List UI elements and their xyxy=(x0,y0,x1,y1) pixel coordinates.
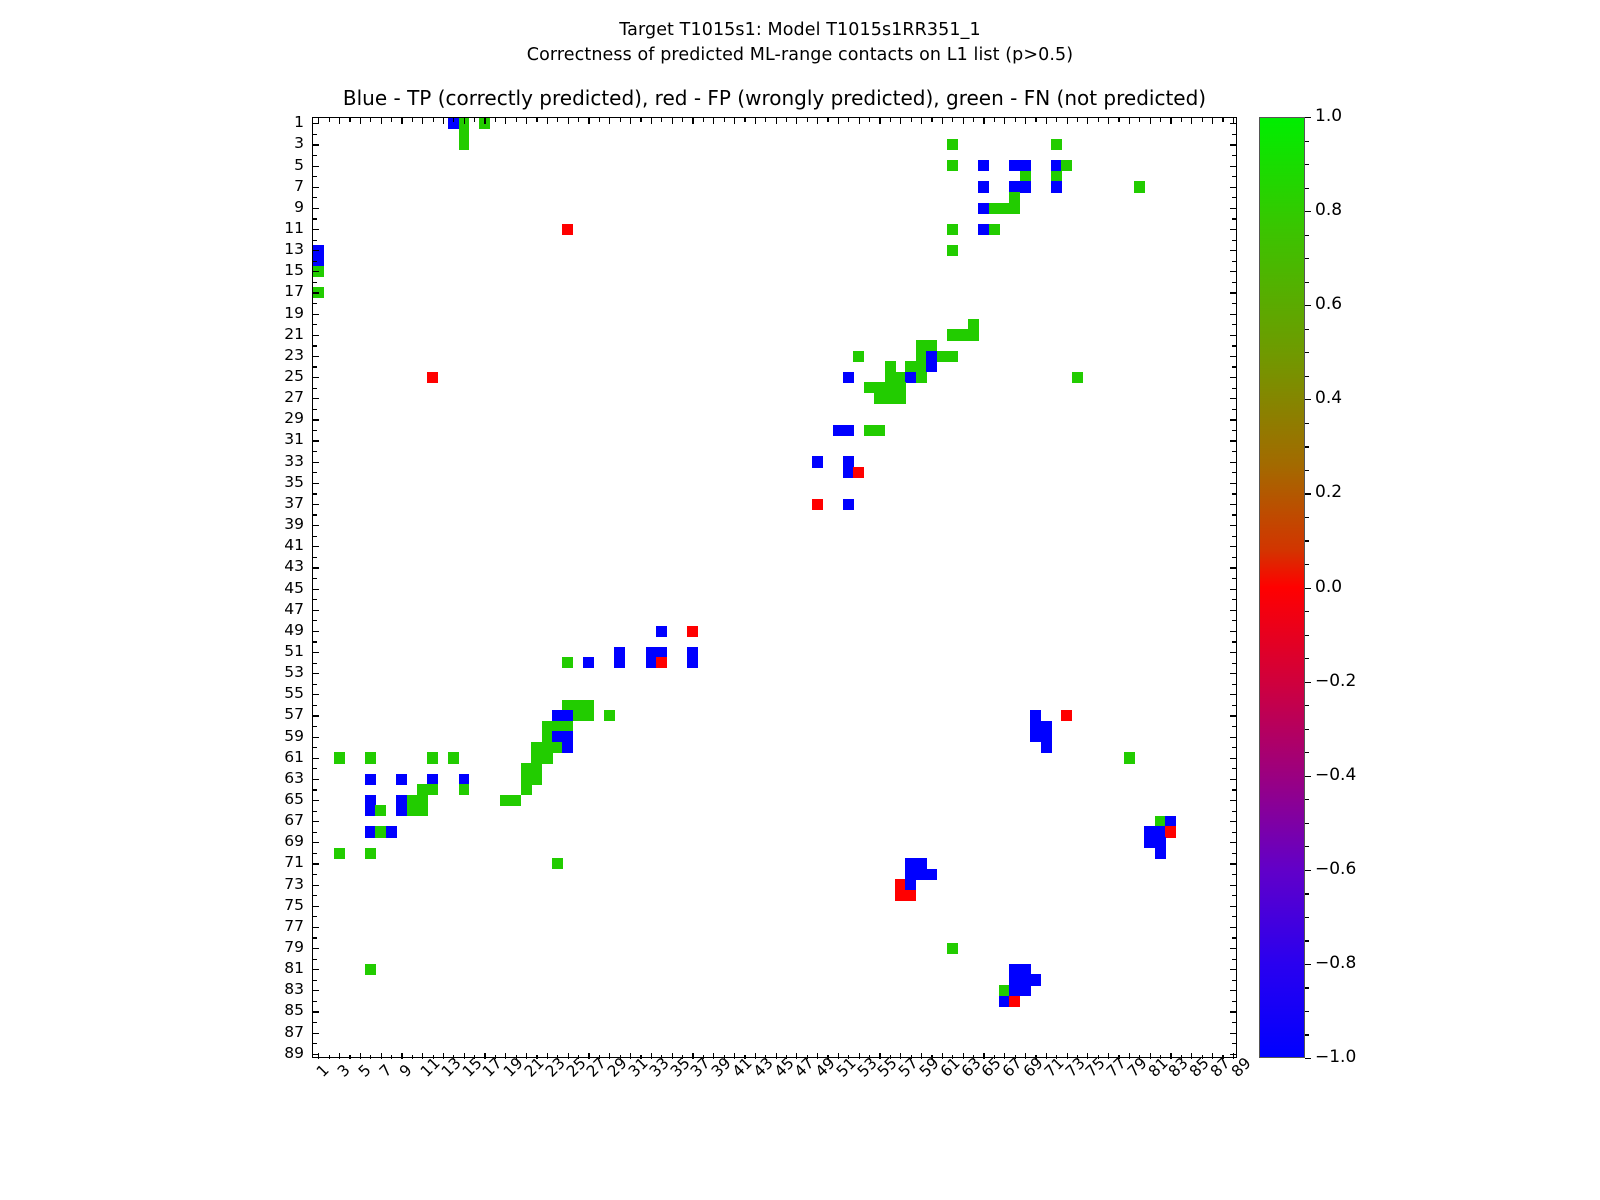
colorbar-minor-tick xyxy=(1305,917,1309,918)
x-axis-tick xyxy=(412,1055,413,1059)
x-axis-tick-top xyxy=(1056,118,1057,122)
y-axis-tick-right xyxy=(1230,546,1236,547)
x-axis-tick-top xyxy=(412,118,413,122)
contact-cell xyxy=(656,647,667,658)
contact-cell xyxy=(687,647,698,658)
x-axis-tick-label: 1 xyxy=(313,1061,333,1081)
y-axis-tick-right xyxy=(1230,885,1236,886)
x-axis-tick-top xyxy=(630,118,631,124)
colorbar-gradient[interactable] xyxy=(1259,117,1305,1058)
x-axis-tick-top xyxy=(900,118,901,124)
y-axis-tick-right xyxy=(1230,1054,1236,1055)
x-axis-tick xyxy=(983,1053,984,1059)
x-axis-tick-top xyxy=(807,118,808,122)
contact-cell xyxy=(989,224,1000,235)
y-axis-tick-right xyxy=(1232,155,1236,156)
contact-cell xyxy=(375,826,386,837)
y-axis-tick-right xyxy=(1232,853,1236,854)
x-axis-tick xyxy=(360,1053,361,1059)
y-axis-tick xyxy=(313,218,317,219)
contact-cell xyxy=(552,721,563,732)
contact-cell xyxy=(895,393,906,404)
y-axis-tick-label: 79 xyxy=(244,938,304,956)
y-axis-tick-label: 85 xyxy=(244,1001,304,1019)
contact-cell xyxy=(396,774,407,785)
x-axis-tick-top xyxy=(443,118,444,124)
x-axis-tick-top xyxy=(879,118,880,124)
x-axis-tick xyxy=(370,1055,371,1059)
y-axis-tick-label: 11 xyxy=(244,219,304,237)
contact-map-plot[interactable] xyxy=(312,117,1237,1058)
y-axis-tick-right xyxy=(1230,652,1236,653)
colorbar-minor-tick xyxy=(1305,141,1309,142)
contact-cell xyxy=(459,129,470,140)
y-axis-tick-label: 25 xyxy=(244,367,304,385)
colorbar-minor-tick xyxy=(1305,729,1309,730)
contact-cell xyxy=(978,160,989,171)
colorbar-minor-tick xyxy=(1305,188,1309,189)
y-axis-tick xyxy=(313,388,317,389)
x-axis-tick xyxy=(568,1053,569,1059)
y-axis-tick-label: 89 xyxy=(244,1044,304,1062)
x-axis-tick-top xyxy=(796,118,797,124)
contact-cell xyxy=(895,372,906,383)
x-axis-tick xyxy=(921,1053,922,1059)
x-axis-tick xyxy=(588,1053,589,1059)
y-axis-tick-label: 87 xyxy=(244,1023,304,1041)
y-axis-tick xyxy=(313,1011,319,1012)
y-axis-tick-right xyxy=(1230,969,1236,970)
y-axis-tick xyxy=(313,261,317,262)
contact-cell xyxy=(1051,139,1062,150)
x-axis-tick-top xyxy=(776,118,777,124)
x-axis-tick xyxy=(651,1053,652,1059)
contact-cell xyxy=(573,700,584,711)
x-axis-tick-top xyxy=(848,118,849,122)
x-axis-tick-top xyxy=(401,118,402,124)
x-axis-tick xyxy=(505,1053,506,1059)
colorbar-minor-tick xyxy=(1305,752,1309,753)
contact-cell xyxy=(885,393,896,404)
contact-cell xyxy=(1041,742,1052,753)
contact-cell xyxy=(562,700,573,711)
contact-cell xyxy=(1144,837,1155,848)
contact-cell xyxy=(334,848,345,859)
y-axis-tick xyxy=(313,229,319,230)
x-axis-tick xyxy=(630,1053,631,1059)
y-axis-tick xyxy=(313,705,317,706)
contact-cell xyxy=(583,700,594,711)
contact-cell xyxy=(895,890,906,901)
colorbar-major-tick xyxy=(1305,211,1311,212)
colorbar-minor-tick xyxy=(1305,1034,1309,1035)
x-axis-tick-top xyxy=(817,118,818,124)
y-axis-tick-right xyxy=(1230,229,1236,230)
x-axis-tick-top xyxy=(557,118,558,122)
y-axis-tick xyxy=(313,969,319,970)
contact-cell xyxy=(1009,160,1020,171)
x-axis-tick-top xyxy=(963,118,964,124)
y-axis-tick-label: 55 xyxy=(244,684,304,702)
contact-cell xyxy=(552,742,563,753)
y-axis-tick-right xyxy=(1230,377,1236,378)
y-axis-tick xyxy=(313,589,319,590)
contact-cell xyxy=(1020,160,1031,171)
axes-title-legend: Blue - TP (correctly predicted), red - F… xyxy=(312,86,1237,110)
y-axis-tick-right xyxy=(1232,768,1236,769)
contact-cell xyxy=(531,742,542,753)
colorbar-minor-tick xyxy=(1305,376,1309,377)
contact-cell xyxy=(978,224,989,235)
x-axis-tick-top xyxy=(672,118,673,124)
y-axis-tick-label: 1 xyxy=(244,113,304,131)
y-axis-tick-right xyxy=(1232,789,1236,790)
contact-cell xyxy=(573,710,584,721)
x-axis-tick-top xyxy=(1202,118,1203,122)
colorbar-minor-tick xyxy=(1305,282,1309,283)
colorbar-minor-tick xyxy=(1305,705,1309,706)
y-axis-tick-right xyxy=(1230,462,1236,463)
y-axis-tick-right xyxy=(1230,631,1236,632)
contact-cell xyxy=(947,245,958,256)
contact-cell xyxy=(874,382,885,393)
y-axis-tick xyxy=(313,1054,319,1055)
contact-cell xyxy=(562,710,573,721)
y-axis-tick-right xyxy=(1230,906,1236,907)
contact-cell xyxy=(334,752,345,763)
contact-cell xyxy=(1020,985,1031,996)
x-axis-tick xyxy=(526,1053,527,1059)
y-axis-tick xyxy=(313,874,317,875)
y-axis-tick-right xyxy=(1230,737,1236,738)
x-axis-tick-top xyxy=(609,118,610,124)
x-axis-tick-top xyxy=(349,118,350,122)
x-axis-tick-top xyxy=(890,118,891,122)
contact-cell xyxy=(427,372,438,383)
x-axis-tick-top xyxy=(1181,118,1182,122)
y-axis-tick xyxy=(313,356,319,357)
y-axis-tick-right xyxy=(1230,715,1236,716)
x-axis-tick-top xyxy=(1212,118,1213,124)
contact-cell xyxy=(531,774,542,785)
colorbar-minor-tick xyxy=(1305,164,1309,165)
contact-cell xyxy=(937,351,948,362)
x-axis-tick-top xyxy=(786,118,787,122)
contact-cell xyxy=(905,869,916,880)
contact-cell xyxy=(427,774,438,785)
y-axis-tick-right xyxy=(1232,557,1236,558)
x-axis-tick-top xyxy=(505,118,506,124)
contact-cell xyxy=(1009,985,1020,996)
colorbar-minor-tick xyxy=(1305,893,1309,894)
x-axis-tick-top xyxy=(1129,118,1130,124)
y-axis-tick xyxy=(313,398,319,399)
colorbar-minor-tick xyxy=(1305,611,1309,612)
x-axis-tick-label: 5 xyxy=(355,1061,375,1081)
y-axis-tick xyxy=(313,176,317,177)
colorbar-minor-tick xyxy=(1305,987,1309,988)
contact-cell xyxy=(999,996,1010,1007)
contact-cell xyxy=(926,340,937,351)
contact-cell xyxy=(947,224,958,235)
y-axis-tick-right xyxy=(1232,345,1236,346)
x-axis-tick xyxy=(1170,1053,1171,1059)
colorbar-tick-label: −0.4 xyxy=(1315,765,1356,785)
x-axis-tick xyxy=(1087,1053,1088,1059)
contact-cell xyxy=(905,361,916,372)
y-axis-tick-right xyxy=(1230,821,1236,822)
contact-cell xyxy=(864,425,875,436)
contact-cell xyxy=(1051,171,1062,182)
contact-cell xyxy=(999,985,1010,996)
y-axis-tick-label: 23 xyxy=(244,346,304,364)
contact-cell xyxy=(656,626,667,637)
x-axis-tick xyxy=(484,1053,485,1059)
x-axis-tick-top xyxy=(640,118,641,122)
contact-cell xyxy=(656,657,667,668)
x-axis-tick xyxy=(1150,1053,1151,1059)
x-axis-tick xyxy=(963,1053,964,1059)
contact-cell xyxy=(500,795,511,806)
y-axis-tick-right xyxy=(1232,980,1236,981)
contact-cell xyxy=(833,425,844,436)
y-axis-tick xyxy=(313,916,317,917)
y-axis-tick-right xyxy=(1230,187,1236,188)
y-axis-tick-right xyxy=(1230,271,1236,272)
colorbar-minor-tick xyxy=(1305,329,1309,330)
y-axis-tick xyxy=(313,144,319,145)
y-axis-tick xyxy=(313,853,317,854)
y-axis-tick xyxy=(313,885,319,886)
x-axis-tick-top xyxy=(1067,118,1068,124)
contact-cell xyxy=(375,805,386,816)
y-axis-tick-right xyxy=(1232,514,1236,515)
contact-cell xyxy=(521,774,532,785)
x-axis-tick xyxy=(381,1053,382,1059)
x-axis-tick-top xyxy=(744,118,745,122)
y-axis-tick xyxy=(313,937,317,938)
y-axis-tick xyxy=(313,504,319,505)
y-axis-tick xyxy=(313,863,319,864)
y-axis-tick-right xyxy=(1232,895,1236,896)
x-axis-tick xyxy=(942,1053,943,1059)
y-axis-tick xyxy=(313,737,319,738)
y-axis-tick-right xyxy=(1232,641,1236,642)
colorbar-tick-label: 0.4 xyxy=(1315,388,1342,408)
y-axis-tick xyxy=(313,980,317,981)
x-axis-tick-top xyxy=(827,118,828,122)
y-axis-tick-label: 41 xyxy=(244,536,304,554)
contact-cell xyxy=(562,742,573,753)
y-axis-tick-label: 37 xyxy=(244,494,304,512)
y-axis-tick-right xyxy=(1230,927,1236,928)
contact-cell xyxy=(1020,171,1031,182)
x-axis-tick xyxy=(1046,1053,1047,1059)
y-axis-tick-right xyxy=(1232,663,1236,664)
colorbar-minor-tick xyxy=(1305,352,1309,353)
y-axis-tick-label: 67 xyxy=(244,811,304,829)
colorbar-major-tick xyxy=(1305,682,1311,683)
y-axis-tick xyxy=(313,694,319,695)
y-axis-tick xyxy=(313,726,317,727)
y-axis-tick xyxy=(313,1033,319,1034)
y-axis-tick-right xyxy=(1232,578,1236,579)
y-axis-tick-right xyxy=(1232,832,1236,833)
y-axis-tick-right xyxy=(1230,208,1236,209)
contact-cell xyxy=(365,752,376,763)
x-axis-tick-top xyxy=(588,118,589,124)
y-axis-tick xyxy=(313,472,317,473)
y-axis-tick-right xyxy=(1230,335,1236,336)
x-axis-tick-top xyxy=(484,118,485,124)
contact-cell xyxy=(885,372,896,383)
y-axis-tick-right xyxy=(1232,684,1236,685)
x-axis-tick-top xyxy=(433,118,434,122)
y-axis-tick xyxy=(313,631,319,632)
x-axis-tick-top xyxy=(1150,118,1151,124)
y-axis-tick-right xyxy=(1232,916,1236,917)
x-axis-tick xyxy=(755,1053,756,1059)
y-axis-tick-right xyxy=(1232,959,1236,960)
y-axis-tick-label: 5 xyxy=(244,156,304,174)
colorbar-minor-tick xyxy=(1305,446,1309,447)
x-axis-tick-top xyxy=(578,118,579,122)
y-axis-tick-label: 33 xyxy=(244,452,304,470)
contact-cell xyxy=(1165,816,1176,827)
x-axis-tick xyxy=(692,1053,693,1059)
y-axis-tick-right xyxy=(1230,166,1236,167)
colorbar-minor-tick xyxy=(1305,423,1309,424)
y-axis-tick-right xyxy=(1230,419,1236,420)
y-axis-tick-right xyxy=(1232,493,1236,494)
contact-cell xyxy=(521,784,532,795)
y-axis-tick xyxy=(313,715,319,716)
x-axis-tick-top xyxy=(983,118,984,124)
x-axis-tick-top xyxy=(1015,118,1016,122)
y-axis-tick xyxy=(313,990,319,991)
contact-cell xyxy=(521,763,532,774)
y-axis-tick-right xyxy=(1230,356,1236,357)
contact-cell xyxy=(1155,848,1166,859)
contact-cell xyxy=(905,372,916,383)
y-axis-tick xyxy=(313,895,317,896)
suptitle-line-2: Correctness of predicted ML-range contac… xyxy=(0,43,1600,68)
x-axis-tick-top xyxy=(931,118,932,122)
y-axis-tick xyxy=(313,1043,317,1044)
y-axis-tick xyxy=(313,292,319,293)
contact-cell xyxy=(989,203,1000,214)
colorbar-minor-tick xyxy=(1305,517,1309,518)
contact-cell xyxy=(604,710,615,721)
contact-cell xyxy=(614,647,625,658)
colorbar-tick-label: −0.8 xyxy=(1315,953,1356,973)
contact-cell xyxy=(1041,721,1052,732)
x-axis-tick-top xyxy=(1087,118,1088,124)
x-axis-tick xyxy=(1212,1053,1213,1059)
colorbar-minor-tick xyxy=(1305,540,1309,541)
x-axis-tick xyxy=(422,1053,423,1059)
contact-cell xyxy=(542,752,553,763)
contact-cell xyxy=(947,139,958,150)
x-axis-tick-top xyxy=(651,118,652,124)
contact-cell xyxy=(926,361,937,372)
x-axis-tick xyxy=(1025,1053,1026,1059)
y-axis-tick xyxy=(313,155,317,156)
y-axis-tick xyxy=(313,578,317,579)
y-axis-tick xyxy=(313,462,319,463)
x-axis-tick-label: 9 xyxy=(396,1061,416,1081)
contact-cell xyxy=(1144,826,1155,837)
contact-cell xyxy=(843,467,854,478)
y-axis-tick-label: 29 xyxy=(244,409,304,427)
y-axis-tick xyxy=(313,250,319,251)
y-axis-tick-label: 53 xyxy=(244,663,304,681)
y-axis-tick-right xyxy=(1230,144,1236,145)
y-axis-tick-right xyxy=(1232,366,1236,367)
x-axis-tick-top xyxy=(516,118,517,122)
y-axis-tick-label: 57 xyxy=(244,705,304,723)
colorbar-minor-tick xyxy=(1305,635,1309,636)
contact-cell xyxy=(926,351,937,362)
colorbar-tick-label: −0.2 xyxy=(1315,671,1356,691)
y-axis-tick xyxy=(313,1022,317,1023)
y-axis-tick-right xyxy=(1230,610,1236,611)
y-axis-tick-label: 77 xyxy=(244,917,304,935)
y-axis-tick-right xyxy=(1232,620,1236,621)
y-axis-tick xyxy=(313,673,319,674)
x-axis-tick-top xyxy=(464,118,465,124)
y-axis-tick-label: 59 xyxy=(244,727,304,745)
x-axis-tick-top xyxy=(536,118,537,122)
contact-cell xyxy=(916,869,927,880)
contact-cells-layer xyxy=(313,118,1236,1057)
x-axis-tick-top xyxy=(1046,118,1047,124)
contact-cell xyxy=(1051,160,1062,171)
contact-cell xyxy=(843,425,854,436)
colorbar-minor-tick xyxy=(1305,658,1309,659)
x-axis-tick-top xyxy=(599,118,600,122)
contact-cell xyxy=(365,964,376,975)
y-axis-tick-right xyxy=(1230,990,1236,991)
contact-cell xyxy=(459,784,470,795)
contact-cell xyxy=(417,784,428,795)
y-axis-tick-right xyxy=(1232,176,1236,177)
x-axis-tick-top xyxy=(911,118,912,122)
contact-cell xyxy=(365,774,376,785)
contact-cell xyxy=(687,657,698,668)
y-axis-tick-label: 7 xyxy=(244,177,304,195)
y-axis-tick xyxy=(313,282,317,283)
y-axis-tick-right xyxy=(1230,800,1236,801)
x-axis-tick xyxy=(672,1053,673,1059)
contact-cell xyxy=(905,858,916,869)
contact-cell xyxy=(1072,372,1083,383)
contact-cell xyxy=(1020,181,1031,192)
colorbar-minor-tick xyxy=(1305,470,1309,471)
y-axis-tick xyxy=(313,557,317,558)
colorbar-major-tick xyxy=(1305,1058,1311,1059)
y-axis-tick xyxy=(313,525,319,526)
y-axis-tick xyxy=(313,440,319,441)
contact-cell xyxy=(646,647,657,658)
y-axis-tick-right xyxy=(1230,948,1236,949)
colorbar-major-tick xyxy=(1305,399,1311,400)
y-axis-tick xyxy=(313,652,319,653)
y-axis-tick xyxy=(313,514,317,515)
contact-cell xyxy=(957,329,968,340)
y-axis-tick-right xyxy=(1232,937,1236,938)
y-axis-tick-right xyxy=(1232,1043,1236,1044)
